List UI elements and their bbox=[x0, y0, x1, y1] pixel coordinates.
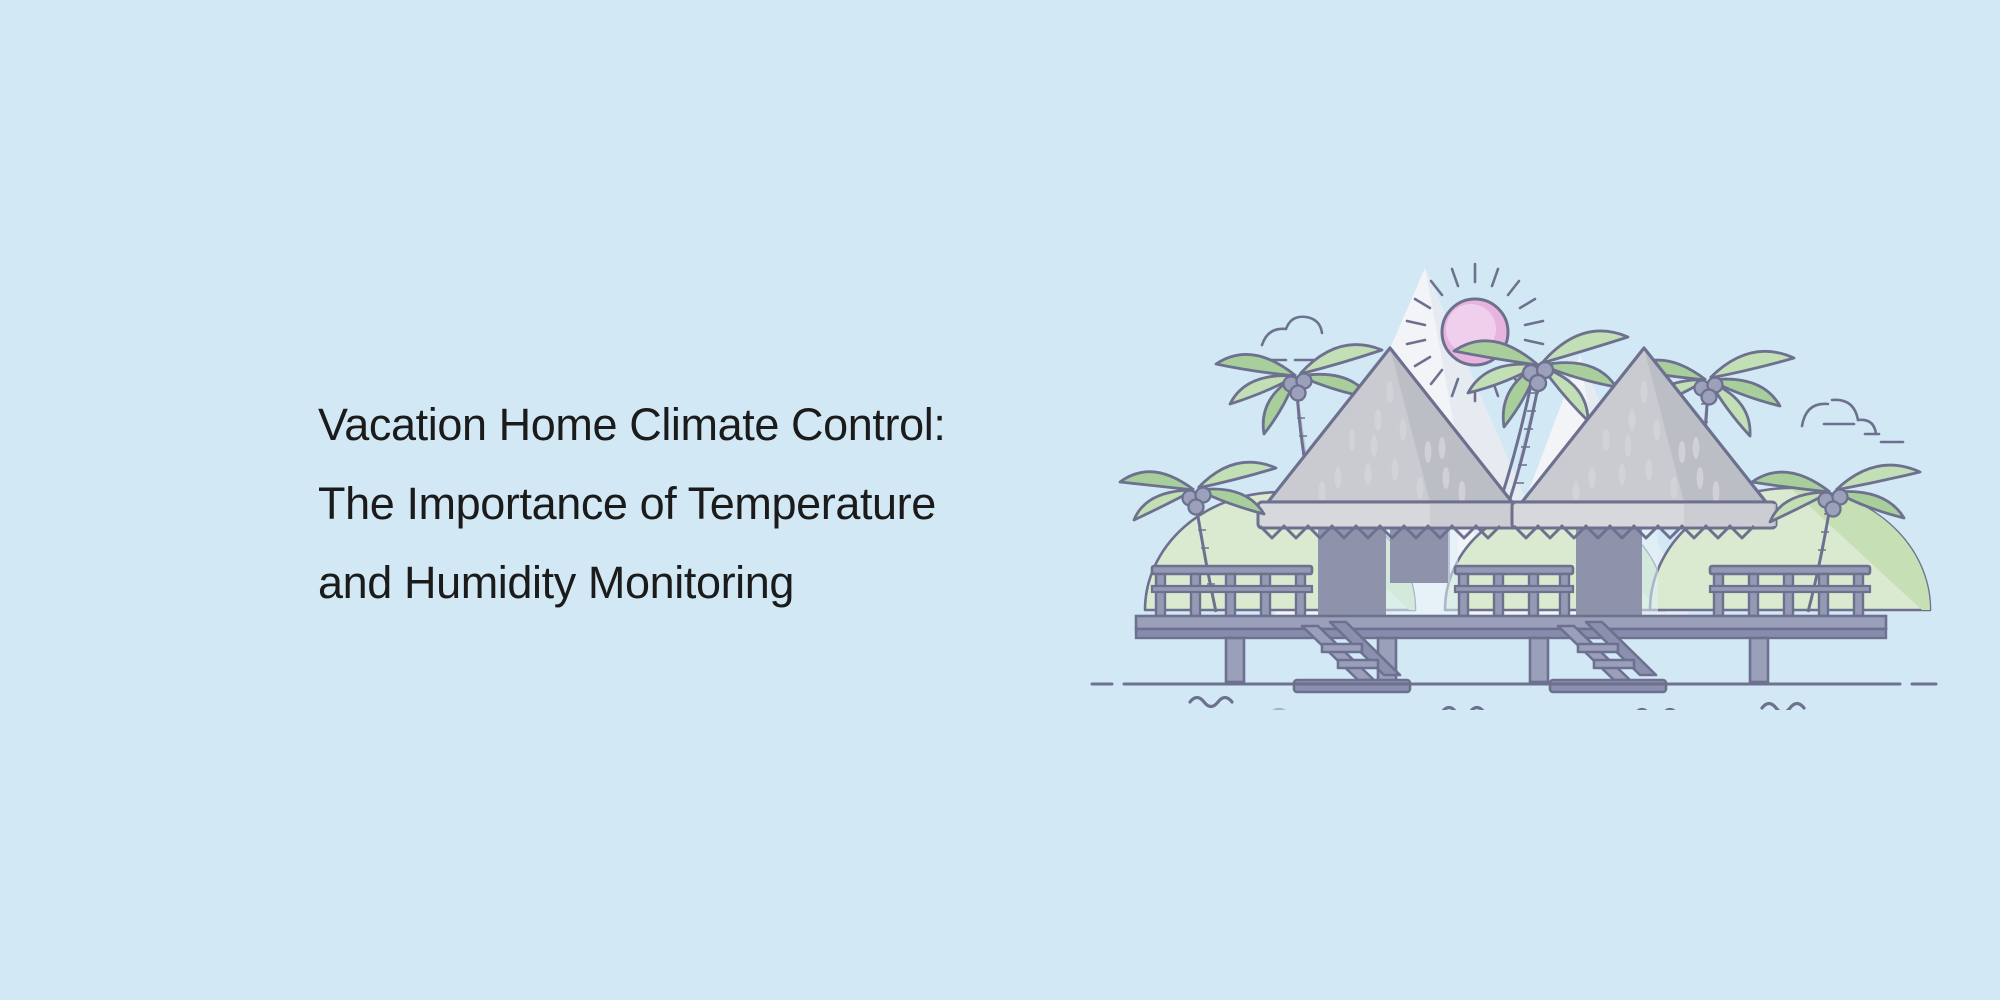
hero-banner: Vacation Home Climate Control: The Impor… bbox=[0, 0, 2000, 1000]
page-title: Vacation Home Climate Control: The Impor… bbox=[318, 385, 1118, 622]
wave-mark bbox=[1442, 708, 1484, 711]
stilt-post bbox=[1750, 638, 1768, 682]
headline-line-3: and Humidity Monitoring bbox=[318, 543, 1118, 622]
deck-platform bbox=[1136, 616, 1886, 638]
cloud-right bbox=[1802, 400, 1903, 442]
wave-group bbox=[1190, 698, 1888, 711]
wave-mark bbox=[1635, 710, 1677, 711]
headline-line-2: The Importance of Temperature bbox=[318, 464, 1118, 543]
wave-mark bbox=[1190, 698, 1232, 707]
wave-mark bbox=[1272, 710, 1300, 711]
hut-wall-right bbox=[1576, 525, 1642, 625]
stilt-post bbox=[1530, 638, 1548, 682]
overwater-bungalows-illustration bbox=[1090, 230, 1940, 710]
stilt-posts bbox=[1226, 638, 1768, 682]
stilt-post bbox=[1226, 638, 1244, 682]
headline-line-1: Vacation Home Climate Control: bbox=[318, 385, 1118, 464]
hero-illustration bbox=[1090, 230, 1940, 710]
wave-mark bbox=[1762, 704, 1804, 711]
